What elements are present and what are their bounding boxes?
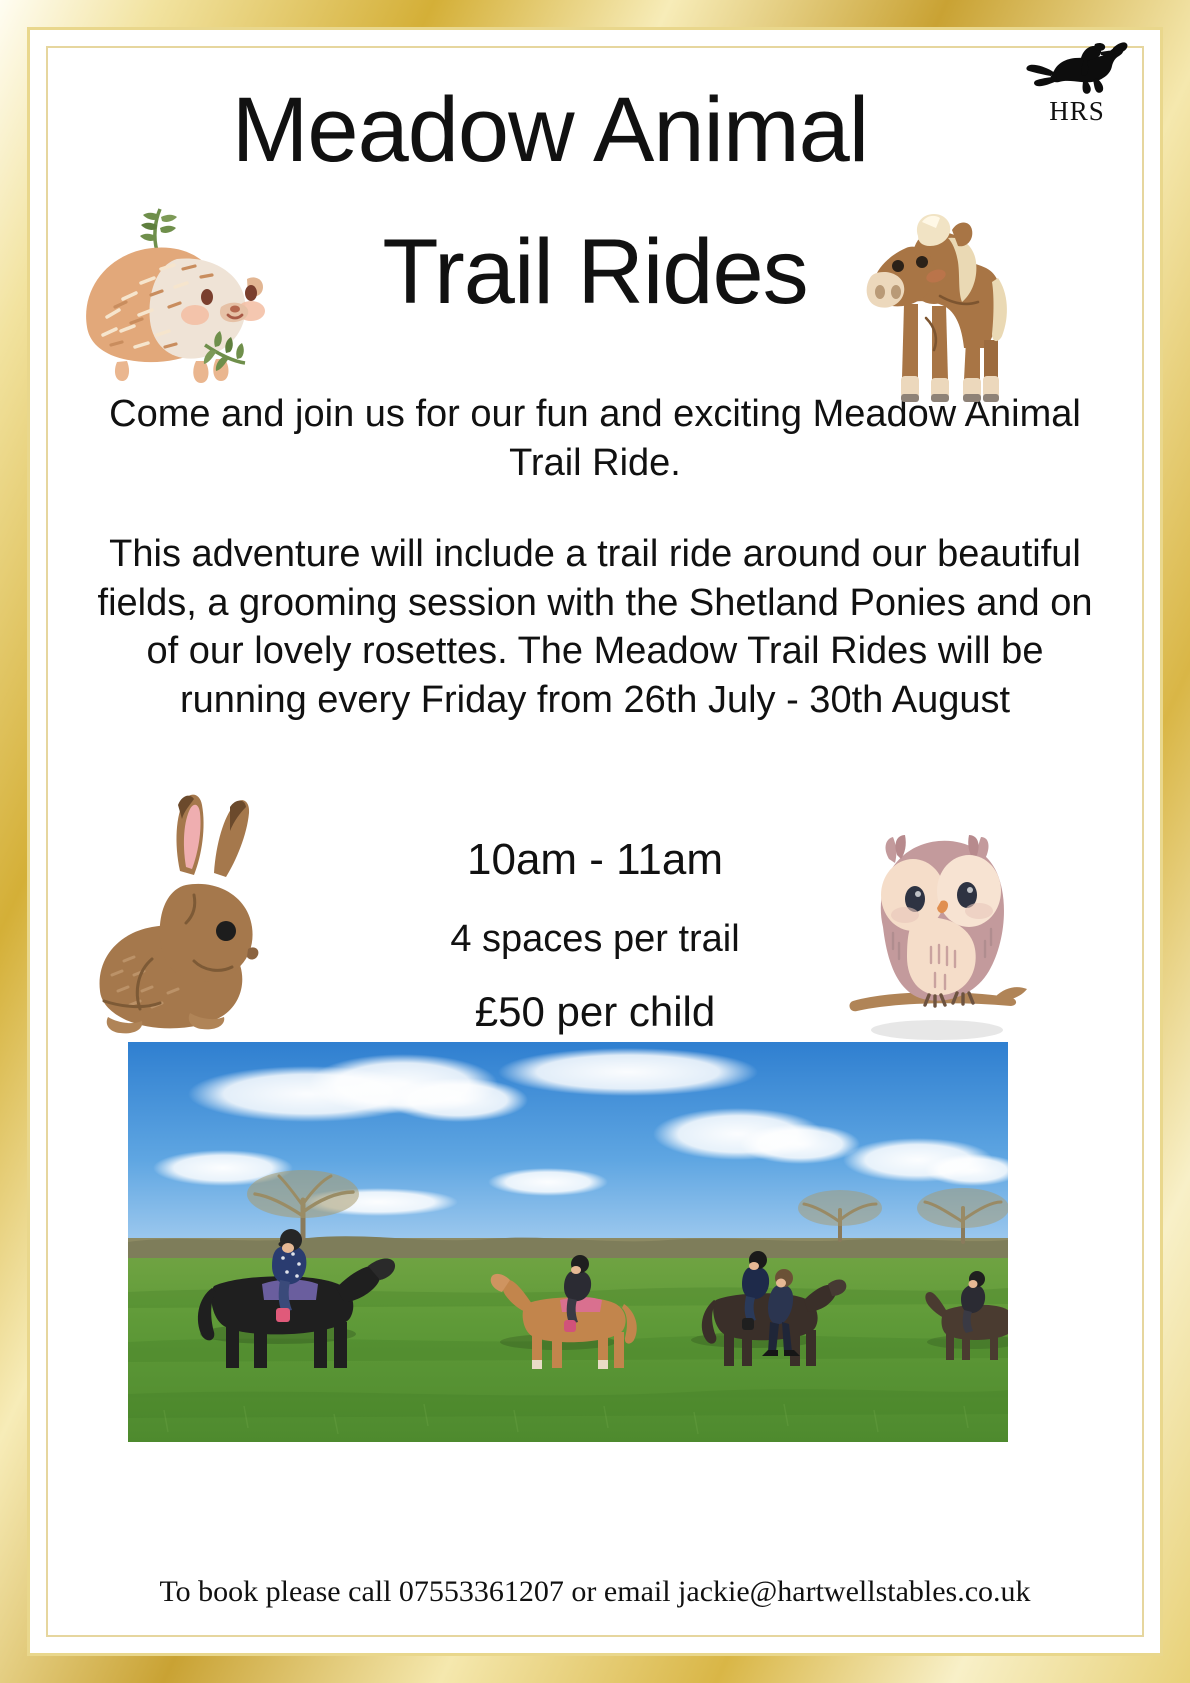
page-title-line-1: Meadow Animal — [30, 78, 1160, 183]
rabbit-illustration — [82, 785, 307, 1050]
poster-page: HRS Meadow Animal Trail Rides Come and j… — [30, 30, 1160, 1653]
booking-contact-line: To book please call 07553361207 or email… — [50, 1575, 1140, 1609]
fern-leaf-top — [140, 209, 177, 251]
owl-illustration — [845, 815, 1035, 1045]
poster: HRS Meadow Animal Trail Rides Come and j… — [0, 0, 1190, 1683]
poster-content: HRS Meadow Animal Trail Rides Come and j… — [30, 30, 1160, 1653]
hedgehog-illustration — [65, 195, 280, 390]
details-paragraph: This adventure will include a trail ride… — [90, 530, 1100, 725]
pony-illustration — [822, 200, 1012, 410]
trail-ride-photo — [128, 1042, 1008, 1442]
